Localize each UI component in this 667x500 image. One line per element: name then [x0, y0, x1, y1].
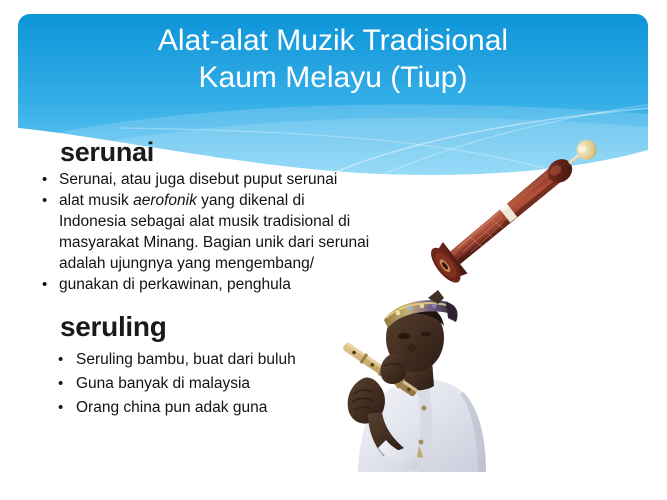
bullet-marker-icon: • — [42, 275, 47, 295]
shirt-button — [422, 406, 427, 411]
slide-title: Alat-alat Muzik Tradisional Kaum Melayu … — [18, 22, 648, 96]
list-item: • gunakan di perkawinan, penghula — [40, 275, 440, 295]
list-item: masyarakat Minang. Bagian unik dari seru… — [40, 233, 440, 253]
seruling-heading: seruling — [60, 310, 400, 344]
list-item-text-before: alat musik — [59, 192, 133, 209]
bullet-marker-icon: • — [58, 397, 63, 419]
list-item: • alat musik aerofonik yang dikenal di — [40, 191, 440, 211]
list-item: • Orang china pun adak guna — [40, 397, 400, 419]
list-item-text: Guna banyak di malaysia — [76, 375, 250, 392]
serunai-body — [426, 130, 610, 287]
section-serunai: serunai • Serunai, atau juga disebut pup… — [40, 136, 440, 296]
presentation-slide: Alat-alat Muzik Tradisional Kaum Melayu … — [0, 0, 667, 500]
shirt-button — [419, 440, 424, 445]
list-item: • Guna banyak di malaysia — [40, 373, 400, 395]
list-item: • Serunai, atau juga disebut puput serun… — [40, 170, 440, 190]
list-item-text: adalah ujungnya yang mengembang/ — [59, 255, 314, 272]
flutist-eye — [421, 331, 431, 336]
list-item-text: Orang china pun adak guna — [76, 399, 267, 416]
list-item-text-after: yang dikenal di — [197, 192, 305, 209]
list-item-text: Seruling bambu, buat dari buluh — [76, 351, 296, 368]
list-item-text: Indonesia sebagai alat musik tradisional… — [59, 213, 350, 230]
slide-title-line-1: Alat-alat Muzik Tradisional — [18, 22, 648, 59]
list-item: adalah ujungnya yang mengembang/ — [40, 254, 440, 274]
list-item: Indonesia sebagai alat musik tradisional… — [40, 212, 440, 232]
list-item: • Seruling bambu, buat dari buluh — [40, 349, 400, 371]
bullet-marker-icon: • — [58, 349, 63, 371]
section-seruling: seruling • Seruling bambu, buat dari bul… — [40, 310, 400, 421]
seruling-bullet-list: • Seruling bambu, buat dari buluh • Guna… — [40, 349, 400, 419]
list-item-text: gunakan di perkawinan, penghula — [59, 276, 291, 293]
serunai-bullet-list: • Serunai, atau juga disebut puput serun… — [40, 170, 440, 295]
list-item-text: Serunai, atau juga disebut puput serunai — [59, 171, 337, 188]
list-item-text: masyarakat Minang. Bagian unik dari seru… — [59, 234, 369, 251]
bullet-marker-icon: • — [42, 191, 47, 211]
serunai-heading: serunai — [60, 136, 440, 168]
list-item-italic-term: aerofonik — [133, 192, 197, 209]
bullet-marker-icon: • — [42, 170, 47, 190]
slide-title-line-2: Kaum Melayu (Tiup) — [18, 59, 648, 96]
bullet-marker-icon: • — [58, 373, 63, 395]
